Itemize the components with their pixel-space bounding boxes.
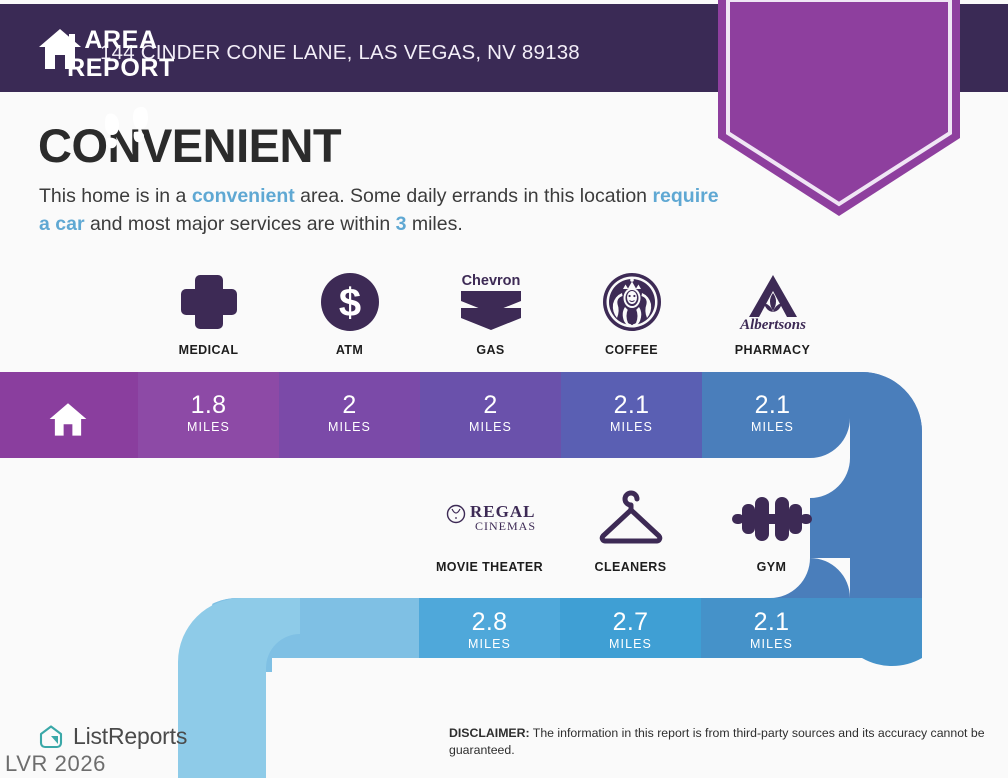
poi-cell-movie-theater: REGAL CINEMAS MOVIE THEATER (419, 487, 560, 574)
segment-row2-2 (701, 598, 842, 672)
poi-label: GYM (757, 560, 787, 574)
svg-text:Chevron: Chevron (461, 273, 520, 289)
blurb-highlight-1: convenient (192, 185, 295, 207)
svg-text:$: $ (338, 281, 360, 325)
poi-cell-medical: MEDICAL (138, 270, 279, 357)
hanger-icon (594, 487, 668, 551)
regal-cinemas-icon: REGAL CINEMAS (442, 487, 538, 551)
ribbon-left-tail-down (178, 662, 272, 672)
area-report-badge (718, 0, 960, 216)
poi-label: PHARMACY (735, 343, 810, 357)
albertsons-icon: Albertsons (730, 270, 816, 334)
segment-turn-right-lower (842, 598, 942, 672)
poi-cell-cleaners: CLEANERS (560, 487, 701, 574)
segment-row1-2 (420, 372, 561, 458)
poi-cell-gas: Chevron GAS (420, 270, 561, 357)
listreports-logo-text: ListReports (73, 723, 187, 750)
segment-row1-1 (279, 372, 420, 458)
svg-text:CINEMAS: CINEMAS (475, 519, 536, 533)
page-title: CONVENIENT (38, 122, 341, 169)
chevron-gas-icon: Chevron (455, 270, 527, 334)
origin-home-icon (47, 398, 89, 440)
poi-cell-coffee: COFFEE (561, 270, 702, 357)
blurb-part-4: miles. (406, 213, 462, 235)
summary-text: This home is in a convenient area. Some … (39, 183, 719, 238)
listreports-logo[interactable]: ListReports (38, 723, 187, 750)
segment-row2-0 (419, 598, 560, 672)
poi-label: GAS (476, 343, 504, 357)
disclaimer-label: DISCLAIMER: (449, 726, 530, 740)
blurb-part-1: This home is in a (39, 185, 192, 207)
poi-label: COFFEE (605, 343, 658, 357)
segment-row1-0 (138, 372, 279, 458)
listreports-house-tag-icon (38, 724, 64, 750)
poi-cell-gym: GYM (701, 487, 842, 574)
blurb-highlight-3: 3 (396, 213, 407, 235)
atm-dollar-icon: $ (319, 270, 381, 334)
ribbon-top-bar (0, 372, 943, 458)
poi-label: MEDICAL (179, 343, 239, 357)
watermark: LVR 2026 (5, 751, 106, 777)
home-icon (36, 25, 84, 73)
poi-cell-pharmacy: Albertsons PHARMACY (702, 270, 843, 357)
starbucks-icon (601, 270, 663, 334)
poi-cell-atm: $ ATM (279, 270, 420, 357)
dumbbell-icon (730, 487, 814, 551)
segment-row1-3 (561, 372, 702, 458)
medical-cross-icon (178, 270, 240, 334)
svg-text:Albertsons: Albertsons (739, 317, 806, 333)
segment-row1-4 (702, 372, 843, 458)
poi-icon-row-2: REGAL CINEMAS MOVIE THEATER CLEANERS (419, 487, 842, 574)
property-address: 144 CINDER CONE LANE, LAS VEGAS, NV 8913… (100, 41, 580, 65)
poi-label: MOVIE THEATER (436, 560, 543, 574)
disclaimer-body: The information in this report is from t… (449, 726, 985, 757)
area-report-page: 144 CINDER CONE LANE, LAS VEGAS, NV 8913… (0, 0, 1008, 778)
disclaimer: DISCLAIMER: The information in this repo… (449, 725, 994, 758)
segment-row2-1 (560, 598, 701, 672)
blurb-part-2: area. Some daily errands in this locatio… (295, 185, 653, 207)
poi-label: CLEANERS (595, 560, 667, 574)
poi-icon-row-1: MEDICAL $ ATM Chevron GAS (138, 270, 843, 357)
poi-label: ATM (336, 343, 363, 357)
footprints-icon (98, 100, 154, 156)
blurb-part-3: and most major services are within (85, 213, 396, 235)
